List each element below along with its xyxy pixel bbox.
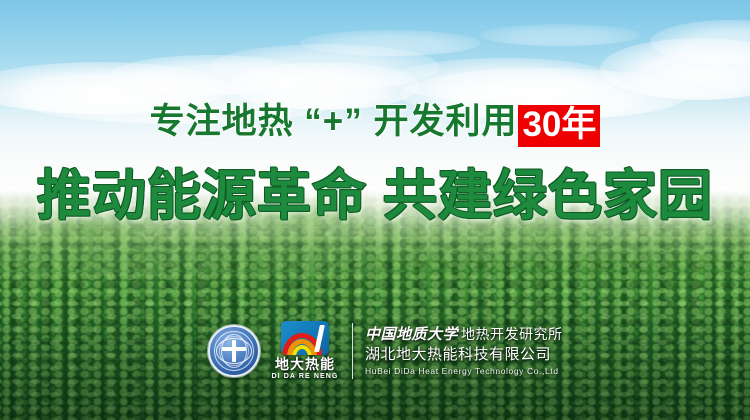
dida-rainbow-icon — [281, 321, 329, 355]
seal-cross-emblem — [222, 340, 246, 362]
sub-headline: 专注地热 “+” 开发利用30年 — [0, 100, 750, 147]
brand-name-en: DI DA RE NENG — [272, 372, 339, 381]
main-headline: 推动能源革命 共建绿色家园 — [0, 163, 750, 229]
company-name-cn: 湖北地大热能科技有限公司 — [365, 344, 568, 365]
sub-headline-text: 专注地热 “+” 开发利用 — [150, 102, 518, 141]
logo-white-stroke — [314, 325, 325, 352]
university-name-cn: 中国地质大学 — [365, 325, 458, 343]
company-name-en: HuBei DiDa Heat Energy Technology Co.,Lt… — [365, 365, 568, 378]
company-identity: 中国地质大学地热开发研究所 湖北地大热能科技有限公司 HuBei DiDa He… — [365, 324, 568, 378]
institute-name-cn: 地热开发研究所 — [461, 326, 563, 342]
vertical-divider — [352, 323, 353, 379]
brand-name-cn: 地大热能 — [275, 356, 335, 372]
years-badge: 30年 — [518, 105, 600, 147]
institute-line: 中国地质大学地热开发研究所 — [365, 325, 568, 344]
promotional-banner: 专注地热 “+” 开发利用30年 推动能源革命 共建绿色家园 地大热能 DI D… — [0, 0, 750, 420]
university-seal-icon — [208, 325, 260, 377]
dida-brand-lockup: 地大热能 DI DA RE NENG — [266, 321, 344, 381]
footer-logo-bar: 地大热能 DI DA RE NENG 中国地质大学地热开发研究所 湖北地大热能科… — [208, 318, 568, 384]
